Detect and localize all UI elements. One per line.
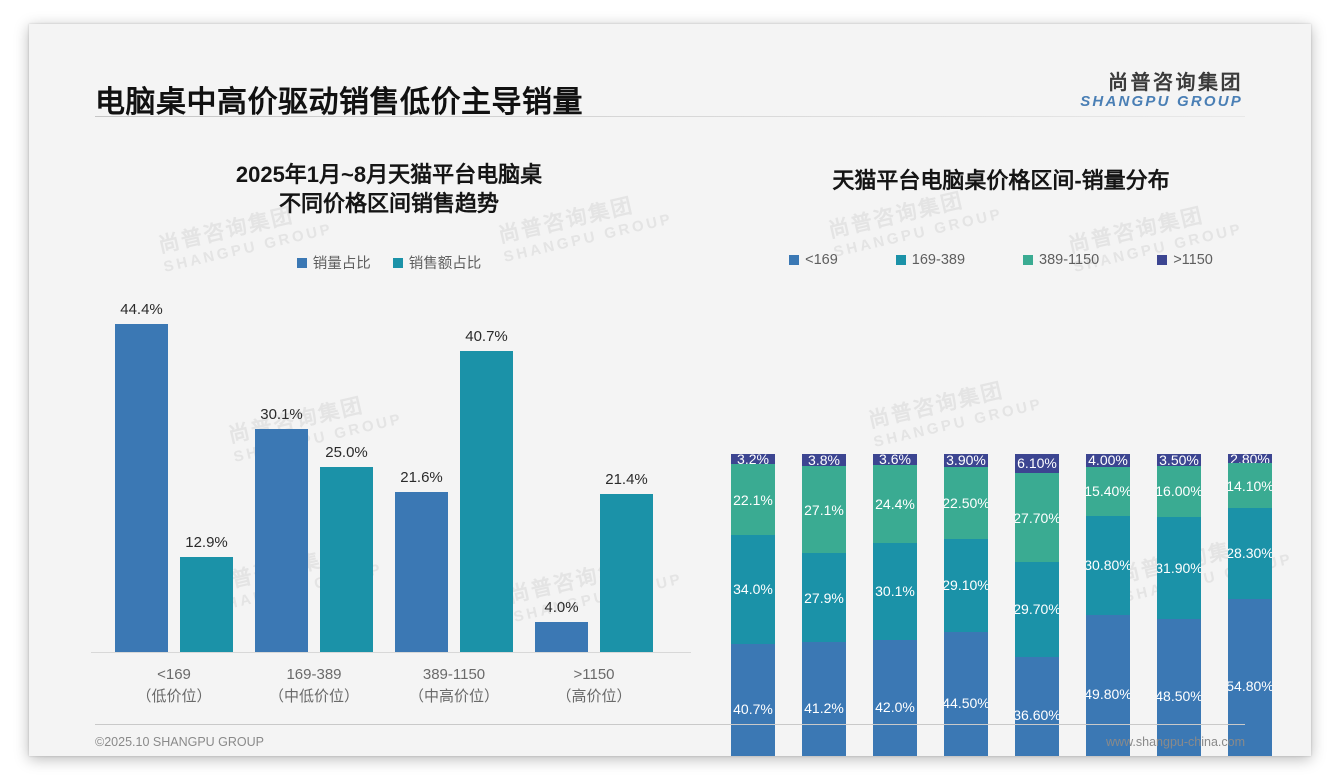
stack-segment-2[interactable]: 16.00% bbox=[1157, 466, 1201, 517]
stack-segment-0[interactable]: 42.0% bbox=[873, 640, 917, 756]
stack-segment-1[interactable]: 34.0% bbox=[731, 535, 775, 644]
slide-canvas: 尚普咨询集团SHANGPU GROUP 尚普咨询集团SHANGPU GROUP … bbox=[29, 24, 1311, 756]
bar-1[interactable] bbox=[460, 351, 513, 652]
legend-item-right-2[interactable]: 389-1150 bbox=[1023, 252, 1099, 268]
stacked-bar-column[interactable]: 3.90%22.50%29.10%44.50% bbox=[944, 314, 988, 756]
legend-label: 389-1150 bbox=[1039, 252, 1099, 268]
stack-segment-label: 15.40% bbox=[1086, 483, 1130, 499]
stack-segment-3[interactable]: 3.8% bbox=[802, 454, 846, 466]
bar-group: 44.4%12.9% bbox=[99, 297, 249, 652]
legend-label: <169 bbox=[805, 252, 838, 268]
stack-segment-label: 27.70% bbox=[1015, 510, 1059, 526]
legend-label: 169-389 bbox=[912, 252, 965, 268]
stack-segment-2[interactable]: 14.10% bbox=[1228, 463, 1272, 508]
stack-segment-label: 28.30% bbox=[1228, 545, 1272, 561]
slide-header: 电脑桌中高价驱动销售低价主导销量 尚普咨询集团 SHANGPU GROUP bbox=[29, 24, 1311, 117]
stack-segment-2[interactable]: 27.70% bbox=[1015, 473, 1059, 562]
stack-segment-1[interactable]: 30.1% bbox=[873, 543, 917, 639]
stack-segment-0[interactable]: 36.60% bbox=[1015, 657, 1059, 756]
bar-group: 21.6%40.7% bbox=[379, 297, 529, 652]
stack-segment-1[interactable]: 31.90% bbox=[1157, 517, 1201, 619]
bar-value-label: 44.4% bbox=[120, 301, 163, 318]
stack-segment-1[interactable]: 27.9% bbox=[802, 553, 846, 642]
x-axis-category-main: 169-389 bbox=[234, 664, 394, 686]
x-axis-category-main: >1150 bbox=[514, 664, 674, 686]
stack-segment-0[interactable]: 40.7% bbox=[731, 644, 775, 756]
stack-segment-1[interactable]: 28.30% bbox=[1228, 508, 1272, 599]
stack-segment-2[interactable]: 27.1% bbox=[802, 466, 846, 553]
bar-1[interactable] bbox=[320, 467, 373, 652]
chart-title-left: 2025年1月~8月天猫平台电脑桌 不同价格区间销售趋势 bbox=[69, 160, 709, 218]
stack-segment-label: 30.80% bbox=[1086, 557, 1130, 573]
stack-segment-label: 6.10% bbox=[1017, 455, 1057, 471]
bar-value-label: 21.4% bbox=[605, 471, 648, 488]
bar-0[interactable] bbox=[115, 324, 168, 652]
bar-value-label: 21.6% bbox=[400, 469, 443, 486]
chart-legend-right: <169169-389389-1150>1150 bbox=[701, 252, 1301, 268]
bar-group: 4.0%21.4% bbox=[519, 297, 669, 652]
brand-name-cn: 尚普咨询集团 bbox=[1080, 72, 1243, 94]
bar-0[interactable] bbox=[255, 429, 308, 652]
stack-segment-3[interactable]: 3.50% bbox=[1157, 454, 1201, 465]
stack-segment-label: 41.2% bbox=[804, 700, 844, 716]
x-axis-category-sub: （高价位） bbox=[514, 686, 674, 708]
stack-segment-0[interactable]: 54.80% bbox=[1228, 599, 1272, 756]
bar-column[interactable]: 44.4% bbox=[115, 324, 168, 652]
stack-segment-label: 27.9% bbox=[804, 590, 844, 606]
chart-legend-left: 销量占比销售额占比 bbox=[69, 252, 709, 273]
legend-swatch-icon bbox=[297, 258, 307, 268]
stack-segment-0[interactable]: 44.50% bbox=[944, 632, 988, 756]
legend-swatch-icon bbox=[1157, 255, 1167, 265]
stacked-bar-column[interactable]: 2.80%14.10%28.30%54.80% bbox=[1228, 314, 1272, 756]
bar-group: 30.1%25.0% bbox=[239, 297, 389, 652]
bar-value-label: 30.1% bbox=[260, 406, 303, 423]
brand-logo: 尚普咨询集团 SHANGPU GROUP bbox=[1080, 72, 1243, 111]
bar-column[interactable]: 21.6% bbox=[395, 492, 448, 652]
stacked-bar-column[interactable]: 4.00%15.40%30.80%49.80% bbox=[1086, 314, 1130, 756]
legend-label: 销售额占比 bbox=[409, 252, 482, 273]
stack-segment-3[interactable]: 3.2% bbox=[731, 454, 775, 464]
header-divider bbox=[95, 116, 1245, 117]
stack-segment-1[interactable]: 29.10% bbox=[944, 539, 988, 632]
legend-item-right-0[interactable]: <169 bbox=[789, 252, 838, 268]
x-axis-category-sub: （中低价位） bbox=[234, 686, 394, 708]
x-axis-category-sub: （低价位） bbox=[94, 686, 254, 708]
stack-segment-3[interactable]: 3.6% bbox=[873, 454, 917, 466]
x-axis-category-label: 169-389（中低价位） bbox=[234, 664, 394, 708]
stack-segment-label: 34.0% bbox=[733, 581, 773, 597]
stacked-bar-column[interactable]: 3.50%16.00%31.90%48.50% bbox=[1157, 314, 1201, 756]
bar-column[interactable]: 40.7% bbox=[460, 351, 513, 652]
legend-label: >1150 bbox=[1173, 252, 1213, 268]
bar-1[interactable] bbox=[600, 494, 653, 652]
x-axis-category-main: 389-1150 bbox=[374, 664, 534, 686]
brand-name-en: SHANGPU GROUP bbox=[1080, 94, 1243, 111]
bar-column[interactable]: 4.0% bbox=[535, 622, 588, 652]
footer-website: www.shangpu-china.com bbox=[1106, 735, 1245, 749]
left-plot-area: 44.4%12.9%30.1%25.0%21.6%40.7%4.0%21.4% bbox=[91, 297, 691, 652]
page-title: 电脑桌中高价驱动销售低价主导销量 bbox=[95, 77, 583, 121]
stack-segment-label: 31.90% bbox=[1157, 560, 1201, 576]
right-plot-area: 3.2%22.1%34.0%40.7%3.8%27.1%27.9%41.2%3.… bbox=[711, 314, 1291, 756]
chart-title-left-line2: 不同价格区间销售趋势 bbox=[69, 189, 709, 218]
legend-item-right-1[interactable]: 169-389 bbox=[896, 252, 965, 268]
bar-0[interactable] bbox=[395, 492, 448, 652]
x-axis-category-main: <169 bbox=[94, 664, 254, 686]
stacked-bar-column[interactable]: 6.10%27.70%29.70%36.60% bbox=[1015, 314, 1059, 756]
stack-segment-label: 14.10% bbox=[1228, 478, 1272, 494]
stack-segment-0[interactable]: 41.2% bbox=[802, 642, 846, 756]
legend-item-left-0[interactable]: 销量占比 bbox=[297, 252, 371, 273]
chart-title-right: 天猫平台电脑桌价格区间-销量分布 bbox=[701, 166, 1301, 195]
stacked-bar-column[interactable]: 3.8%27.1%27.9%41.2% bbox=[802, 314, 846, 756]
stacked-bar-column[interactable]: 3.2%22.1%34.0%40.7% bbox=[731, 314, 775, 756]
bar-value-label: 40.7% bbox=[465, 328, 508, 345]
stack-segment-label: 30.1% bbox=[875, 583, 915, 599]
chart-title-left-line1: 2025年1月~8月天猫平台电脑桌 bbox=[69, 160, 709, 189]
x-axis-category-sub: （中高价位） bbox=[374, 686, 534, 708]
stack-segment-label: 48.50% bbox=[1157, 688, 1201, 704]
stack-segment-label: 24.4% bbox=[875, 496, 915, 512]
bar-value-label: 12.9% bbox=[185, 534, 228, 551]
stack-segment-label: 27.1% bbox=[804, 502, 844, 518]
legend-swatch-icon bbox=[896, 255, 906, 265]
stack-segment-2[interactable]: 22.50% bbox=[944, 467, 988, 539]
bar-column[interactable]: 30.1% bbox=[255, 429, 308, 652]
stack-segment-label: 54.80% bbox=[1228, 678, 1272, 694]
stack-segment-1[interactable]: 30.80% bbox=[1086, 516, 1130, 615]
bar-value-label: 25.0% bbox=[325, 444, 368, 461]
legend-item-right-3[interactable]: >1150 bbox=[1157, 252, 1213, 268]
legend-swatch-icon bbox=[1023, 255, 1033, 265]
stack-segment-label: 40.7% bbox=[733, 701, 773, 717]
bar-column[interactable]: 25.0% bbox=[320, 467, 373, 652]
bar-column[interactable]: 21.4% bbox=[600, 494, 653, 652]
bar-column[interactable]: 12.9% bbox=[180, 557, 233, 652]
stack-segment-1[interactable]: 29.70% bbox=[1015, 562, 1059, 657]
chart-panel-right: 天猫平台电脑桌价格区间-销量分布 <169169-389389-1150>115… bbox=[701, 142, 1301, 712]
stack-segment-2[interactable]: 22.1% bbox=[731, 464, 775, 535]
stack-segment-label: 29.10% bbox=[944, 577, 988, 593]
stack-segment-2[interactable]: 15.40% bbox=[1086, 467, 1130, 516]
x-axis-category-label: >1150（高价位） bbox=[514, 664, 674, 708]
stack-segment-label: 36.60% bbox=[1015, 707, 1059, 723]
bar-value-label: 4.0% bbox=[544, 599, 578, 616]
stack-segment-label: 29.70% bbox=[1015, 601, 1059, 617]
chart-panel-left: 2025年1月~8月天猫平台电脑桌 不同价格区间销售趋势 销量占比销售额占比 4… bbox=[69, 142, 709, 712]
left-axis-baseline bbox=[91, 652, 691, 653]
legend-item-left-1[interactable]: 销售额占比 bbox=[393, 252, 482, 273]
stack-segment-3[interactable]: 4.00% bbox=[1086, 454, 1130, 467]
x-axis-category-label: <169（低价位） bbox=[94, 664, 254, 708]
stack-segment-label: 44.50% bbox=[944, 695, 988, 711]
x-axis-category-label: 389-1150（中高价位） bbox=[374, 664, 534, 708]
stack-segment-label: 49.80% bbox=[1086, 686, 1130, 702]
stack-segment-label: 16.00% bbox=[1157, 483, 1201, 499]
stack-segment-3[interactable]: 2.80% bbox=[1228, 454, 1272, 463]
footer-divider bbox=[95, 724, 1245, 725]
bar-1[interactable] bbox=[180, 557, 233, 652]
stack-segment-2[interactable]: 24.4% bbox=[873, 465, 917, 543]
legend-label: 销量占比 bbox=[313, 252, 371, 273]
stack-segment-label: 42.0% bbox=[875, 699, 915, 715]
bar-0[interactable] bbox=[535, 622, 588, 652]
footer-copyright: ©2025.10 SHANGPU GROUP bbox=[95, 735, 264, 749]
stack-segment-3[interactable]: 3.90% bbox=[944, 454, 988, 466]
legend-swatch-icon bbox=[393, 258, 403, 268]
stack-segment-label: 22.1% bbox=[733, 492, 773, 508]
stack-segment-label: 22.50% bbox=[944, 495, 988, 511]
legend-swatch-icon bbox=[789, 255, 799, 265]
stack-segment-3[interactable]: 6.10% bbox=[1015, 454, 1059, 474]
stacked-bar-column[interactable]: 3.6%24.4%30.1%42.0% bbox=[873, 314, 917, 756]
